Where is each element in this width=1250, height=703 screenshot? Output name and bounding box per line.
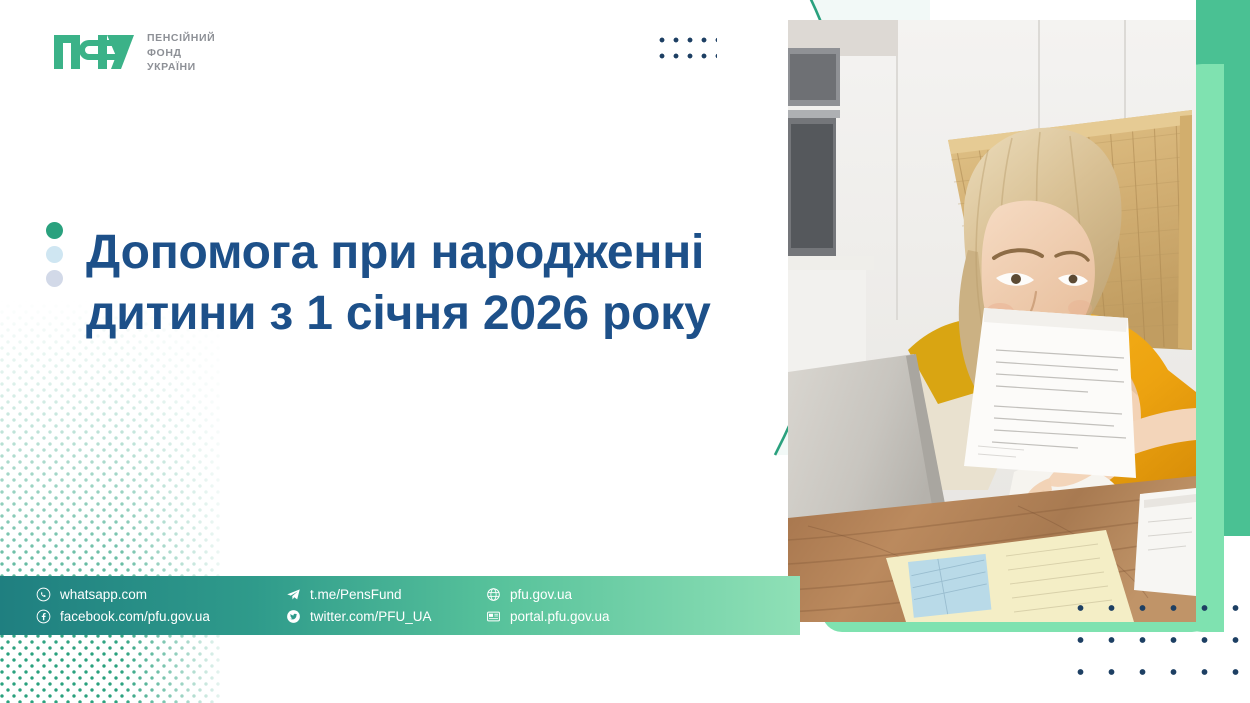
logo-line-2: ФОНД [147, 47, 215, 60]
pfu-logo-icon [52, 27, 136, 78]
pfu-logo[interactable]: ПЕНСІЙНИЙ ФОНД УКРАЇНИ [52, 27, 215, 78]
footer-link-label: whatsapp.com [60, 588, 147, 602]
footer-link-whatsapp[interactable]: whatsapp.com [36, 587, 286, 602]
footer-column-3: pfu.gov.ua portal.pfu.gov.ua [486, 587, 686, 624]
facebook-icon [36, 609, 51, 624]
footer-link-twitter[interactable]: twitter.com/PFU_UA [286, 609, 486, 624]
footer-link-label: pfu.gov.ua [510, 588, 572, 602]
headline-accent-dots [46, 222, 63, 287]
headline-line-1: Допомога при народженні [86, 222, 766, 283]
footer-column-1: whatsapp.com facebook.com/pfu.gov.ua [36, 587, 286, 624]
decorative-dot-grid-top [655, 32, 717, 66]
footer-link-label: twitter.com/PFU_UA [310, 610, 432, 624]
footer-link-facebook[interactable]: facebook.com/pfu.gov.ua [36, 609, 286, 624]
decorative-halftone-fade [120, 300, 240, 703]
logo-line-3: УКРАЇНИ [147, 61, 215, 74]
page-title: Допомога при народженні дитини з 1 січня… [86, 222, 766, 345]
footer-column-2: t.me/PensFund twitter.com/PFU_UA [286, 587, 486, 624]
accent-dot-green [46, 222, 63, 239]
accent-dot-blue [46, 246, 63, 263]
decorative-halftone-left [0, 300, 220, 703]
footer-links: whatsapp.com facebook.com/pfu.gov.ua [0, 576, 800, 635]
footer-link-website[interactable]: pfu.gov.ua [486, 587, 686, 602]
footer-link-portal[interactable]: portal.pfu.gov.ua [486, 609, 686, 624]
accent-dot-lavender [46, 270, 63, 287]
logo-line-1: ПЕНСІЙНИЙ [147, 32, 215, 45]
footer-link-telegram[interactable]: t.me/PensFund [286, 587, 486, 602]
decorative-dot-grid-bottom-right [1065, 592, 1250, 697]
footer-link-label: facebook.com/pfu.gov.ua [60, 610, 210, 624]
poster-canvas: ПЕНСІЙНИЙ ФОНД УКРАЇНИ Допомога при наро… [0, 0, 1250, 703]
headline-line-2: дитини з 1 січня 2026 року [86, 283, 766, 344]
whatsapp-icon [36, 587, 51, 602]
footer-link-label: portal.pfu.gov.ua [510, 610, 610, 624]
twitter-icon [286, 609, 301, 624]
telegram-icon [286, 587, 301, 602]
footer-link-label: t.me/PensFund [310, 588, 402, 602]
hero-photo [788, 20, 1196, 622]
globe-icon [486, 587, 501, 602]
pfu-logo-text: ПЕНСІЙНИЙ ФОНД УКРАЇНИ [147, 30, 215, 74]
portal-icon [486, 609, 501, 624]
